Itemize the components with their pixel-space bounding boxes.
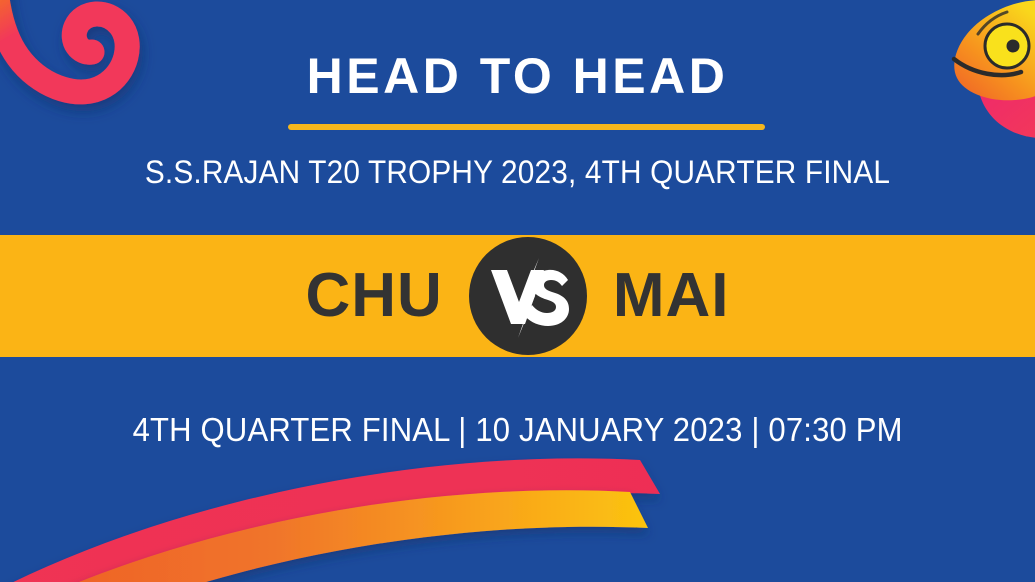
header-section: HEAD TO HEAD S.S.RAJAN T20 TROPHY 2023, … bbox=[0, 0, 1035, 235]
tournament-subtitle: S.S.RAJAN T20 TROPHY 2023, 4TH QUARTER F… bbox=[36, 152, 999, 192]
versus-lightning-icon bbox=[480, 248, 576, 344]
head-to-head-banner: HEAD TO HEAD S.S.RAJAN T20 TROPHY 2023, … bbox=[0, 0, 1035, 582]
away-team-code: MAI bbox=[613, 265, 730, 327]
title-underline bbox=[288, 124, 765, 130]
match-info-text: 4TH QUARTER FINAL | 10 JANUARY 2023 | 07… bbox=[132, 411, 902, 449]
versus-badge bbox=[469, 237, 587, 355]
page-title: HEAD TO HEAD bbox=[0, 47, 1035, 105]
match-info-bar: 4TH QUARTER FINAL | 10 JANUARY 2023 | 07… bbox=[0, 357, 1035, 502]
home-team-code: CHU bbox=[306, 265, 443, 327]
versus-band: CHU MAI bbox=[0, 235, 1035, 357]
